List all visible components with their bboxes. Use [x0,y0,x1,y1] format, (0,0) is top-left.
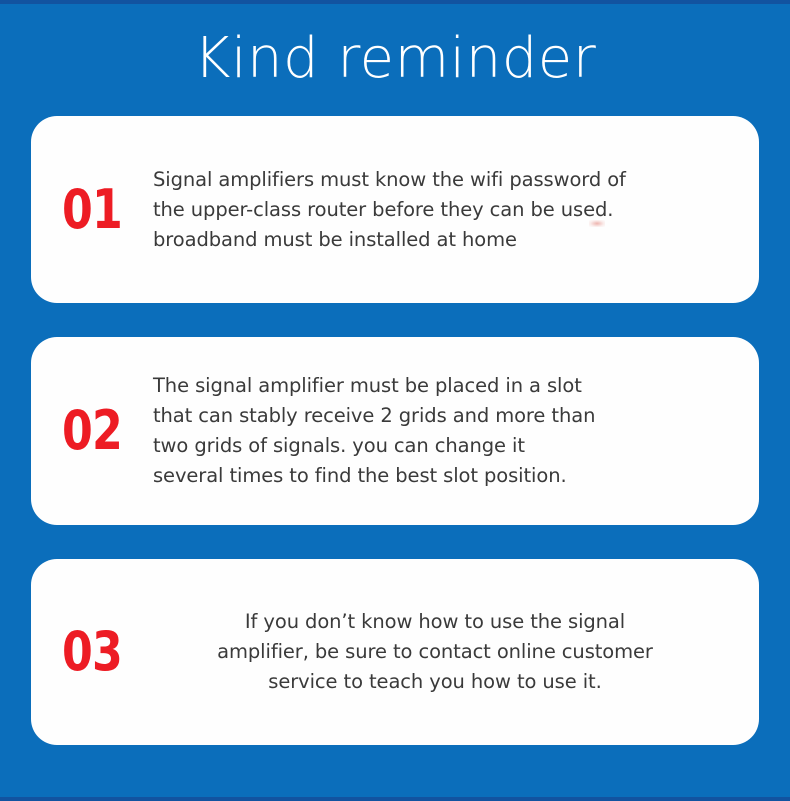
card-text-02: The signal amplifier must be placed in a… [153,371,743,491]
card-03-line-2: amplifier, be sure to contact online cus… [153,637,717,667]
card-number-02: 02 [42,404,142,458]
reminder-card-02: 02 The signal amplifier must be placed i… [31,337,759,525]
reminder-card-01: 01 Signal amplifiers must know the wifi … [31,116,759,303]
card-03-line-1: If you don’t know how to use the signal [153,607,717,637]
card-02-line-3: two grids of signals. you can change it [153,431,733,461]
reminder-page: Kind reminder 01 Signal amplifiers must … [0,0,790,801]
card-text-03: If you don’t know how to use the signal … [153,607,743,697]
card-02-line-4: several times to find the best slot posi… [153,461,733,491]
page-title: Kind reminder [31,31,759,87]
card-02-line-2: that can stably receive 2 grids and more… [153,401,733,431]
reminder-card-list: 01 Signal amplifiers must know the wifi … [31,116,759,745]
card-01-line-1: Signal amplifiers must know the wifi pas… [153,165,733,195]
bottom-edge-band [0,797,790,801]
reminder-card-03: 03 If you don’t know how to use the sign… [31,559,759,745]
card-number-01: 01 [42,183,142,237]
card-03-line-3: service to teach you how to use it. [153,667,717,697]
card-02-line-1: The signal amplifier must be placed in a… [153,371,733,401]
card-01-line-3: broadband must be installed at home [153,225,733,255]
card-text-01: Signal amplifiers must know the wifi pas… [153,165,743,255]
card-number-03: 03 [42,625,142,679]
card-01-line-2: the upper-class router before they can b… [153,195,733,225]
top-edge-band [0,0,790,4]
